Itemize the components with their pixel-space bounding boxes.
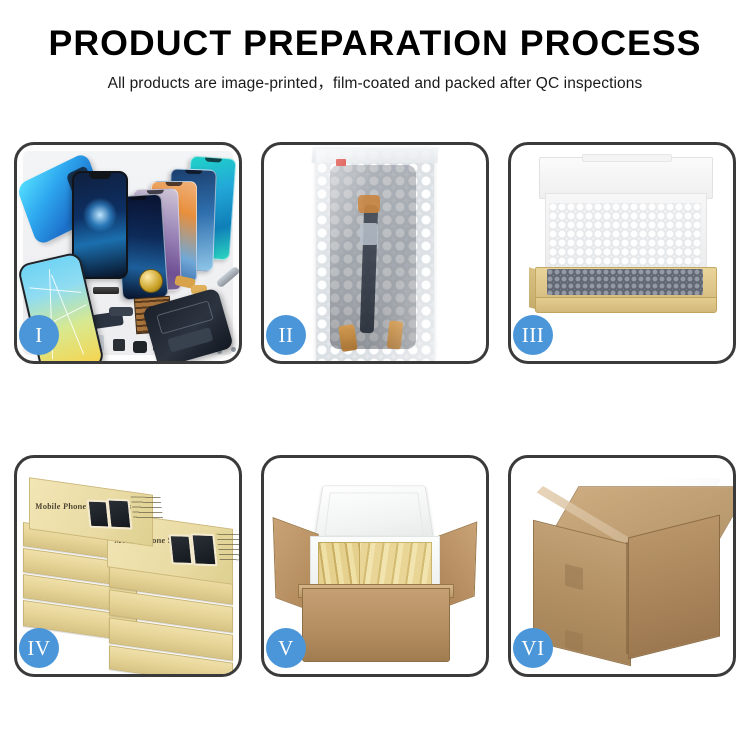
box-spec-lines xyxy=(131,496,164,521)
box-window-left xyxy=(168,534,193,565)
camera-module-icon xyxy=(113,339,125,351)
process-step-grid: I II xyxy=(14,142,736,677)
vibrator-motor-icon xyxy=(139,269,163,293)
step-badge-5: V xyxy=(266,628,306,668)
gray-bubble-padding-icon xyxy=(547,269,703,295)
carton-front-panel xyxy=(302,588,450,662)
phone-screen-fan xyxy=(121,155,239,267)
sealed-carton-icon xyxy=(529,480,721,660)
red-label-icon xyxy=(336,159,346,166)
carton-tape-patch-upper xyxy=(565,564,583,590)
product-preparation-infographic: PRODUCT PREPARATION PROCESS All products… xyxy=(0,0,750,750)
driver-chip-icon xyxy=(360,223,378,245)
flex-cable-small-icon xyxy=(109,307,133,316)
gold-contact-right-icon xyxy=(387,320,404,349)
box-window-right xyxy=(190,533,217,566)
process-step-3: III xyxy=(508,142,736,364)
header: PRODUCT PREPARATION PROCESS All products… xyxy=(0,0,750,93)
white-foam-sheet-icon xyxy=(549,203,701,273)
process-step-1: I xyxy=(14,142,242,364)
box-window-right xyxy=(106,498,132,529)
step-badge-3: III xyxy=(513,315,553,355)
process-step-5: V xyxy=(261,455,489,677)
carton-vertical-edge xyxy=(626,542,628,654)
step-badge-1: I xyxy=(19,315,59,355)
step-badge-4: IV xyxy=(19,628,59,668)
process-step-2: II xyxy=(261,142,489,364)
bag-opening xyxy=(311,147,438,163)
gold-contact-left-icon xyxy=(338,324,357,352)
step-badge-2: II xyxy=(266,315,306,355)
process-step-6: VI xyxy=(508,455,736,677)
box-front-lip xyxy=(535,297,717,313)
earpiece-speaker-icon xyxy=(93,287,119,294)
page-title: PRODUCT PREPARATION PROCESS xyxy=(0,26,750,61)
box-spec-lines xyxy=(217,534,239,561)
copper-pad-icon xyxy=(358,195,380,213)
page-subtitle: All products are image-printed，film-coat… xyxy=(0,71,750,93)
bubble-wrap-bag-icon xyxy=(316,149,434,361)
taptic-engine-icon xyxy=(133,341,147,353)
process-step-4: Mobile Phone Spare Parts Mobile Phone Sp… xyxy=(14,455,242,677)
step-badge-6: VI xyxy=(513,628,553,668)
carton-right-face xyxy=(628,515,720,660)
